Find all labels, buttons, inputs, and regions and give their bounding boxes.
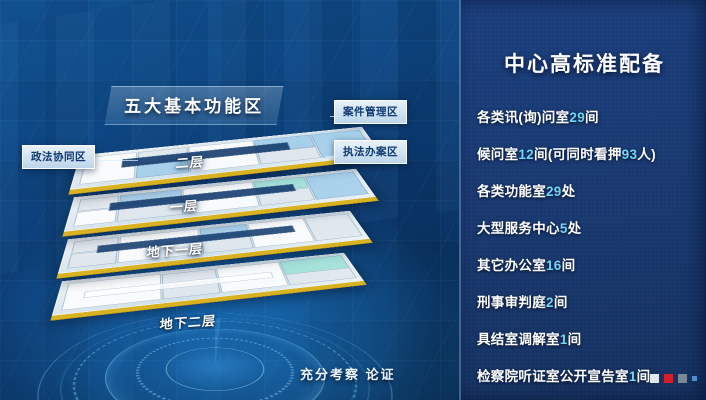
spec-item-unit: 间 (585, 110, 599, 125)
spec-item-value: 1 (560, 332, 568, 347)
spec-item-label: 检察院听证室公开宣告室 (477, 369, 629, 384)
floor-label-f1: 一层 (169, 195, 199, 216)
spec-item-label: 各类功能室 (477, 184, 546, 199)
panel-title: 中心高标准配备 (461, 48, 706, 78)
tag-leader-line-3 (326, 156, 338, 157)
spec-item-label: 各类讯(询)问室 (477, 110, 569, 125)
spec-list-item: 各类讯(询)问室29间 (477, 106, 700, 126)
spec-item-unit: 间 (637, 369, 651, 384)
scene-banner-title: 五大基本功能区 (105, 86, 284, 125)
spec-item-unit: 处 (562, 184, 576, 199)
indicator-square[interactable] (692, 376, 697, 381)
spec-item-unit: 间 (562, 258, 576, 273)
tag-leader-line-1 (98, 160, 138, 161)
spec-item-label: 候问室 (477, 147, 518, 162)
spec-list-item: 各类功能室29处 (477, 180, 700, 200)
spec-item-value: 29 (569, 110, 585, 125)
indicator-squares (650, 374, 697, 383)
building-visualization-scene: 二层 一层 地下一层 地下二层 五大基本功能区 政法协同区 案件管理区 执法办案… (0, 0, 460, 400)
screenshot-root: 二层 一层 地下一层 地下二层 五大基本功能区 政法协同区 案件管理区 执法办案… (0, 0, 706, 400)
spec-item-value: 1 (629, 369, 637, 384)
indicator-square[interactable] (650, 374, 659, 383)
spec-panel: 中心高标准配备 各类讯(询)问室29间候问室12间(可同时看押93人)各类功能室… (459, 0, 706, 400)
spec-list-item: 刑事审判庭2间 (477, 291, 700, 311)
scene-banner-title-text: 五大基本功能区 (124, 92, 264, 117)
spec-item-value: 12 (518, 147, 534, 162)
floor-label-f2: 二层 (175, 151, 205, 172)
spec-item-value-secondary: 93 (622, 147, 638, 162)
spec-item-unit: 间 (554, 295, 568, 310)
spec-list-item: 其它办公室16间 (477, 254, 700, 274)
scene-caption: 充分考察 论证 (300, 364, 396, 383)
spec-item-unit: 间(可同时看押 (534, 147, 622, 162)
spec-item-unit: 处 (568, 221, 582, 236)
floor-label-b1: 地下一层 (146, 238, 204, 261)
region-tag-case-management[interactable]: 案件管理区 (334, 100, 407, 124)
spec-list-item: 具结室调解室1间 (477, 328, 700, 348)
exploded-floor-stack (0, 0, 460, 400)
floor-label-b2: 地下二层 (159, 310, 217, 333)
spec-item-unit-secondary: 人) (637, 147, 656, 162)
spec-item-unit: 间 (568, 332, 582, 347)
spec-item-label: 刑事审判庭 (477, 295, 546, 310)
indicator-square[interactable] (664, 374, 673, 383)
spec-item-value: 5 (560, 221, 568, 236)
spec-item-value: 2 (546, 295, 554, 310)
region-tag-law-enforcement-case-handling[interactable]: 执法办案区 (334, 140, 407, 164)
spec-item-value: 29 (546, 184, 562, 199)
indicator-square[interactable] (678, 374, 687, 383)
spec-item-label: 其它办公室 (477, 258, 546, 273)
spec-item-label: 具结室调解室 (477, 332, 560, 347)
spec-item-value: 16 (546, 258, 562, 273)
tag-leader-line-2 (330, 116, 340, 117)
region-tag-political-legal-collaboration[interactable]: 政法协同区 (22, 145, 95, 169)
spec-list-item: 候问室12间(可同时看押93人) (477, 143, 700, 163)
spec-list: 各类讯(询)问室29间候问室12间(可同时看押93人)各类功能室29处大型服务中… (477, 106, 700, 400)
spec-item-label: 大型服务中心 (477, 221, 560, 236)
spec-list-item: 大型服务中心5处 (477, 217, 700, 237)
